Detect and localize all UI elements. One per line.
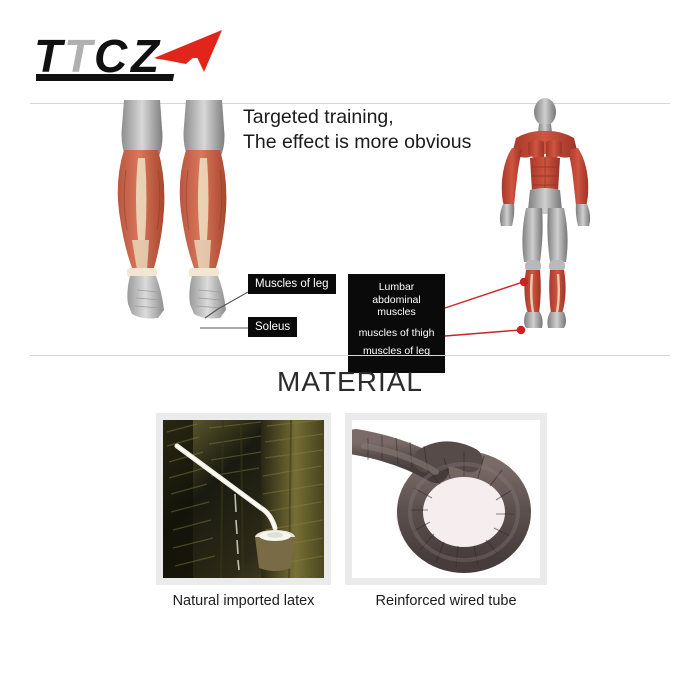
material-heading: MATERIAL [0, 366, 700, 398]
lower-leg-anatomy-illustration [112, 100, 242, 332]
right-leg [180, 100, 227, 319]
label-muscles-of-thigh: muscles of thigh [348, 327, 445, 340]
targeted-training-section: Targeted training, The effect is more ob… [0, 104, 700, 354]
label-lumbar-abdominal-muscles: Lumbar abdominal muscles [348, 281, 445, 319]
label-soleus: Soleus [248, 317, 297, 337]
brand-logo: T T C Z [36, 28, 236, 84]
material-image-natural-imported-latex [156, 413, 331, 585]
caption-reinforced-wired-tube: Reinforced wired tube [345, 593, 547, 609]
caption-natural-imported-latex: Natural imported latex [156, 593, 331, 609]
left-leg [118, 100, 165, 319]
rubber-tree-tapping-photo [163, 420, 324, 578]
logo-mark: T T C Z [36, 28, 236, 84]
material-image-reinforced-wired-tube [345, 413, 547, 585]
fabric-sleeved-resistance-tube-photo [352, 420, 540, 578]
full-body-anatomy-illustration [492, 98, 598, 336]
divider-middle [30, 355, 670, 356]
logo-underbar [36, 74, 174, 81]
label-muscles-of-leg: Muscles of leg [248, 274, 336, 294]
body-label-group: Lumbar abdominal muscles muscles of thig… [348, 274, 445, 373]
